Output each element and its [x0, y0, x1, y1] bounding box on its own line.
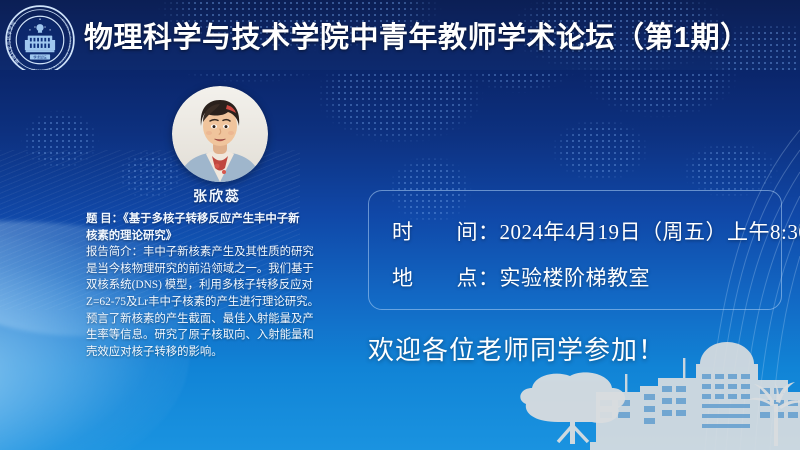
abstract-line-2: 是当今核物理研究的前沿领域之一。我们基于 [86, 261, 348, 278]
abstract-line-6: 生率等信息。研究了原子核取向、入射能量和 [86, 327, 348, 344]
abstract-line-5: 预言了新核素的产生截面、最佳入射能量及产 [86, 311, 348, 328]
svg-text:学术论坛: 学术论坛 [33, 55, 47, 60]
speaker-portrait-photo [172, 86, 268, 182]
university-emblem-icon: 物理科学与技术学院 SCHOOL OF PHYSICAL SCIENCE AND… [4, 4, 76, 70]
event-details-panel [368, 190, 782, 310]
speaker-info-block: 张欣蕊 题 目：《基于多核子转移反应产生丰中子新 核素的理论研究》 报告简介：丰… [86, 186, 348, 360]
abstract-line-7: 壳效应对核子转移的影响。 [86, 344, 348, 361]
topic-line-2: 核素的理论研究》 [86, 228, 348, 245]
poster-title: 物理科学与技术学院中青年教师学术论坛（第1期） [84, 14, 750, 56]
seminar-poster: 物理科学与技术学院 SCHOOL OF PHYSICAL SCIENCE AND… [0, 0, 800, 450]
topic-line-1: 题 目：《基于多核子转移反应产生丰中子新 [86, 211, 348, 228]
abstract-line-1: 报告简介：丰中子新核素产生及其性质的研究 [86, 244, 348, 261]
speaker-name: 张欣蕊 [86, 186, 348, 206]
poster-header: 物理科学与技术学院 SCHOOL OF PHYSICAL SCIENCE AND… [0, 0, 800, 70]
event-place-row: 地 点：实验楼阶梯教室 [392, 262, 650, 292]
abstract-line-4: Z=62-75及Lr丰中子核素的产生进行理论研究。 [86, 294, 348, 311]
abstract-line-3: 双核系统(DNS) 模型，利用多核子转移反应对 [86, 277, 348, 294]
event-time-row: 时 间：2024年4月19日（周五）上午8:30 [392, 216, 800, 246]
welcome-message: 欢迎各位老师同学参加！ [368, 330, 665, 367]
